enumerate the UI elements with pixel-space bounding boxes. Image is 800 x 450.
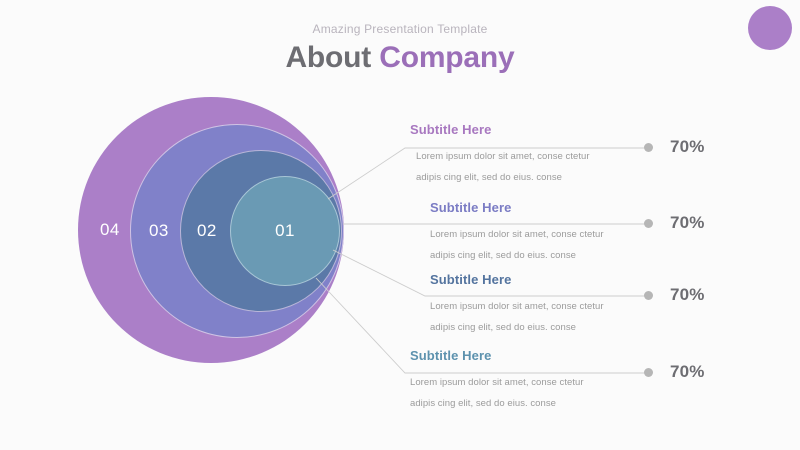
info-block-2-line-2: adipis cing elit, sed do eius. conse	[430, 245, 660, 266]
ring-label-01: 01	[275, 221, 295, 241]
info-block-3-line-2: adipis cing elit, sed do eius. conse	[430, 317, 660, 338]
percent-value-4: 70%	[670, 362, 705, 382]
ring-label-02: 02	[197, 221, 217, 241]
percent-value-1: 70%	[670, 137, 705, 157]
page-title: About Company	[0, 41, 800, 75]
leader-node-3	[644, 291, 653, 300]
eyebrow-text: Amazing Presentation Template	[0, 22, 800, 36]
leader-node-4	[644, 368, 653, 377]
page-title-main: About	[285, 41, 379, 74]
info-block-4-subtitle: Subtitle Here	[410, 348, 640, 364]
percent-value-3: 70%	[670, 285, 705, 305]
info-block-2-subtitle: Subtitle Here	[430, 200, 660, 216]
page-title-accent: Company	[379, 41, 514, 74]
ring-segment-01[interactable]: 01	[230, 176, 340, 286]
info-block-4-line-2: adipis cing elit, sed do eius. conse	[410, 393, 640, 414]
info-block-3-line-1: Lorem ipsum dolor sit amet, conse ctetur	[430, 296, 660, 317]
info-block-1: Subtitle Here Lorem ipsum dolor sit amet…	[410, 122, 640, 188]
leader-node-2	[644, 219, 653, 228]
info-block-1-line-1: Lorem ipsum dolor sit amet, conse ctetur	[410, 146, 640, 167]
slide-canvas: Amazing Presentation Template About Comp…	[0, 0, 800, 450]
slide-header: Amazing Presentation Template About Comp…	[0, 22, 800, 75]
nested-rings-diagram: 04 03 02 01	[66, 84, 366, 384]
leader-node-1	[644, 143, 653, 152]
info-block-3-subtitle: Subtitle Here	[430, 272, 660, 288]
info-block-4: Subtitle Here Lorem ipsum dolor sit amet…	[410, 348, 640, 414]
ring-label-04: 04	[100, 220, 120, 240]
info-block-3: Subtitle Here Lorem ipsum dolor sit amet…	[430, 272, 660, 338]
info-block-2: Subtitle Here Lorem ipsum dolor sit amet…	[430, 200, 660, 266]
info-block-1-subtitle: Subtitle Here	[410, 122, 640, 138]
percent-value-2: 70%	[670, 213, 705, 233]
ring-label-03: 03	[149, 221, 169, 241]
info-block-4-line-1: Lorem ipsum dolor sit amet, conse ctetur	[410, 372, 640, 393]
info-block-1-line-2: adipis cing elit, sed do eius. conse	[410, 167, 640, 188]
info-block-2-line-1: Lorem ipsum dolor sit amet, conse ctetur	[430, 224, 660, 245]
